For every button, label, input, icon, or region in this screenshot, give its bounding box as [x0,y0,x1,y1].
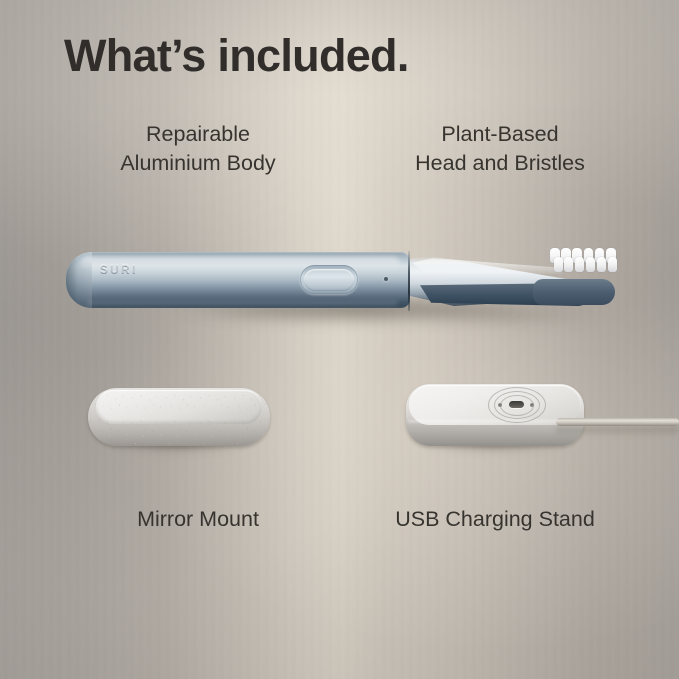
toothbrush-bristle-pad [533,279,615,305]
mirror-mount-top-face [96,390,262,424]
bristle-tuft [608,257,617,272]
caption-line: Plant-Based [355,120,645,149]
toothbrush-neck-highlight [412,258,562,274]
page-title: What’s included. [64,30,409,82]
bristle-tuft [575,257,584,272]
status-led-icon [384,277,388,281]
bristle-tuft [564,257,573,272]
brand-logo: SURI [100,264,138,276]
charging-pin-left [498,403,502,407]
bristle-tuft [597,257,606,272]
toothbrush-bristles [549,248,617,274]
bristle-tuft [586,257,595,272]
charging-contact-slot [509,401,524,408]
toothbrush-product [0,230,679,340]
caption-plant-based-head: Plant-Based Head and Bristles [355,120,645,178]
mirror-mount-product [0,370,340,480]
caption-charging-stand: USB Charging Stand [340,505,650,534]
bristle-tuft [554,257,563,272]
caption-line: Aluminium Body [48,149,348,178]
caption-line: Repairable [48,120,348,149]
caption-mirror-mount: Mirror Mount [48,505,348,534]
caption-aluminium-body: Repairable Aluminium Body [48,120,348,178]
product-feature-image: What’s included. Repairable Aluminium Bo… [0,0,679,679]
usb-cable [556,418,679,426]
usb-cable-shadow [556,427,679,436]
caption-line: Head and Bristles [355,149,645,178]
stone-texture [96,390,262,424]
power-button-inset[interactable] [304,269,354,291]
handle-head-seam [408,251,410,311]
toothbrush-handle-underglow [88,299,398,305]
charging-cradle [488,387,544,421]
charging-pin-right [530,403,534,407]
